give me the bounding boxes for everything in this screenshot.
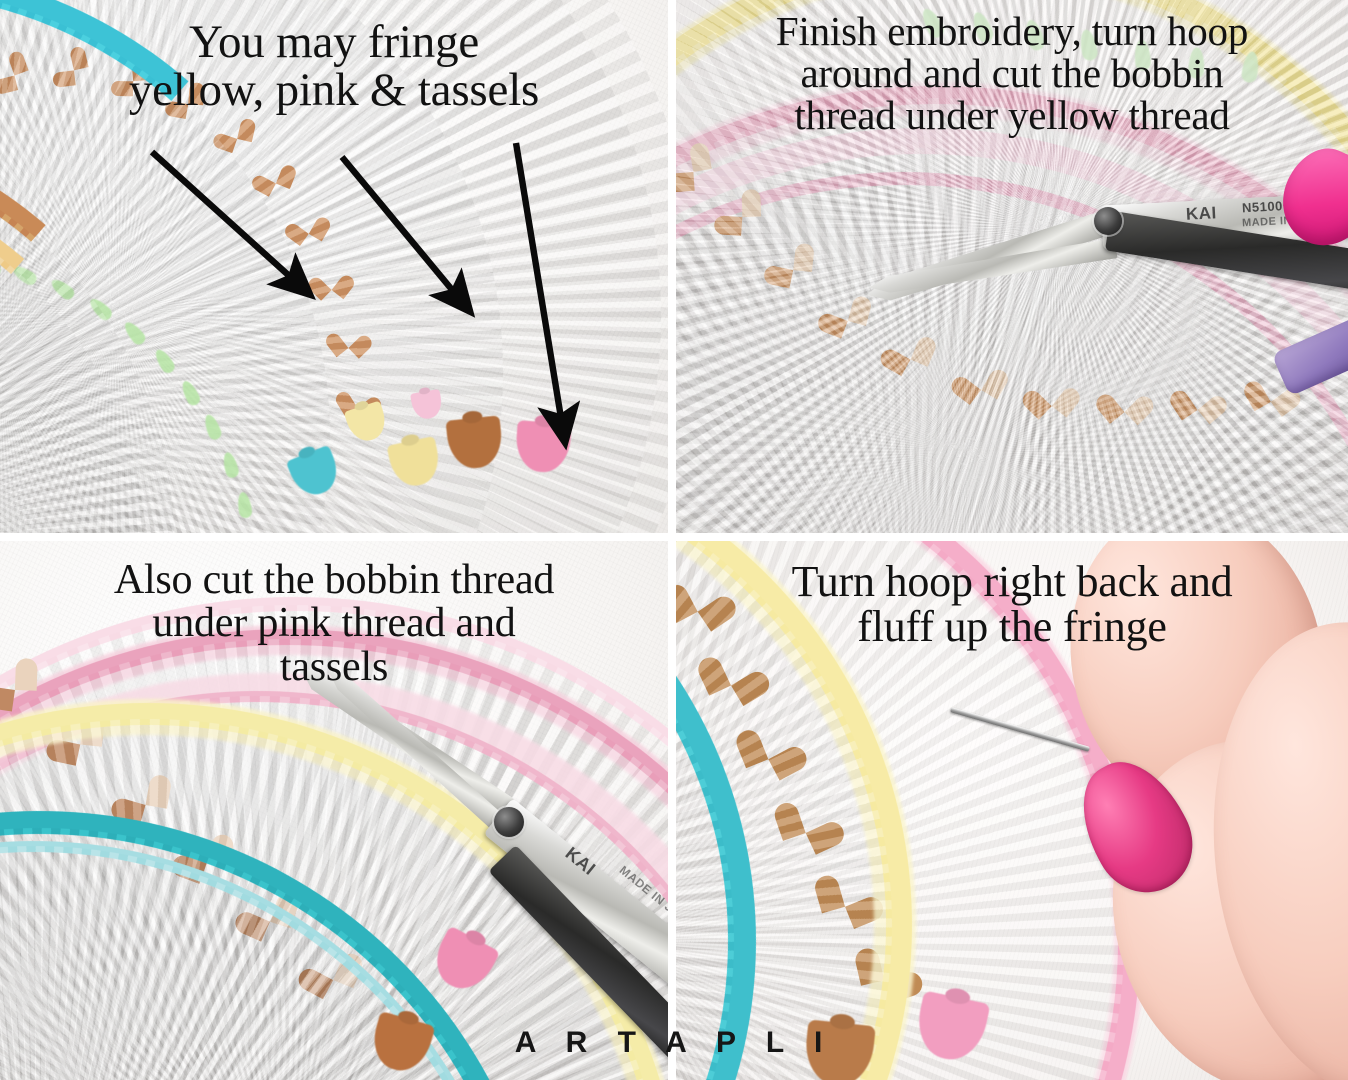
arrow-to-pink-arc [342,157,458,297]
caption-bottom-right: Turn hoop right back and fluff up the fr… [676,559,1348,650]
caption-bottom-left: Also cut the bobbin thread under pink th… [0,559,668,689]
photo-collage: You may fringe yellow, pink & tassels [0,0,1348,1080]
caption-line: under pink thread and [0,602,668,645]
caption-top-right: Finish embroidery, turn hoop around and … [676,10,1348,137]
scissor-pivot-screw [494,807,524,837]
scissor-pivot-screw [1094,207,1122,235]
panel-bottom-left: KAI MADE IN JAPAN Also cut the bobbin th… [0,541,668,1080]
scissor-brand-label: KAI [1185,203,1217,225]
arrow-to-pink-tassel [516,143,562,424]
arrow-to-yellow-arc [152,152,296,282]
caption-line: thread under yellow thread [676,94,1348,136]
photo-hand-needle: Turn hoop right back and fluff up the fr… [676,541,1348,1080]
caption-line: Also cut the bobbin thread [0,559,668,602]
caption-line: fluff up the fringe [676,604,1348,649]
photo-scissors-pink: KAI MADE IN JAPAN Also cut the bobbin th… [0,541,668,1080]
caption-line: around and cut the bobbin [676,52,1348,94]
panel-bottom-right: Turn hoop right back and fluff up the fr… [676,541,1348,1080]
panel-top-right: KAI N5100C MADE IN JAPAN Finish embroide… [676,0,1348,533]
caption-line: You may fringe [0,18,668,66]
caption-line: tassels [0,646,668,689]
panel-top-left: You may fringe yellow, pink & tassels [0,0,668,533]
caption-line: yellow, pink & tassels [0,66,668,114]
photo-rainbow-front: You may fringe yellow, pink & tassels [0,0,668,533]
brand-watermark: A R T A P L I [0,1026,1348,1060]
caption-line: Turn hoop right back and [676,559,1348,604]
photo-scissors-yellow: KAI N5100C MADE IN JAPAN Finish embroide… [676,0,1348,533]
caption-line: Finish embroidery, turn hoop [676,10,1348,52]
caption-top-left: You may fringe yellow, pink & tassels [0,18,668,115]
